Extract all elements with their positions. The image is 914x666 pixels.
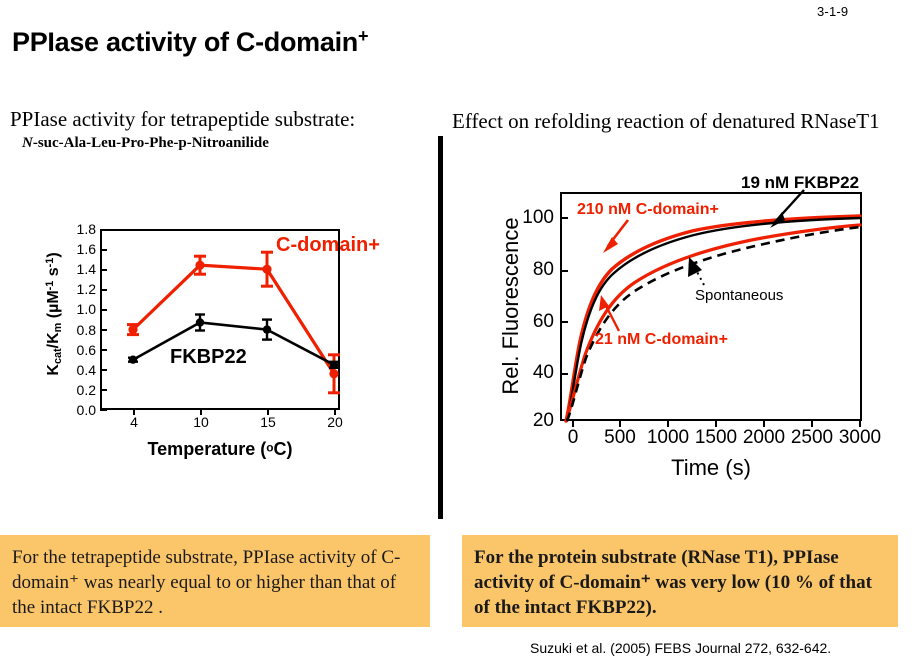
slide-number: 3-1-9 [817,4,848,19]
right-xtick-mark-2000 [763,419,765,427]
right-y-axis-title: Rel. Fluorescence [498,186,524,426]
chart-kcat-km-vs-temperature: 0.0 0.2 0.4 0.6 0.8 1.0 1.2 1.4 1.6 1.8 … [20,196,420,466]
right-ytick-mark-60 [560,321,568,323]
right-xtick-mark-1000 [667,419,669,427]
left-xtick-label-2: 15 [248,414,288,430]
slide-canvas: 3-1-9 PPIase activity of C-domain+ PPIas… [0,0,914,666]
right-panel-heading: Effect on refolding reaction of denature… [452,108,882,134]
annotation-spontaneous: Spontaneous [695,287,783,304]
panel-divider [438,136,443,519]
left-xtick-label-0: 4 [114,414,154,430]
right-xtick-mark-1500 [715,419,717,427]
substrate-name-rest: -suc-Ala-Leu-Pro-Phe-p-Nitroanilide [33,135,269,151]
left-ytick-mark-3 [100,349,107,351]
left-ytick-mark-8 [100,249,107,251]
left-ytick-mark-2 [100,369,107,371]
right-plot-frame [560,192,862,421]
left-xtick-label-3: 20 [315,414,355,430]
left-ytick-mark-4 [100,329,107,331]
substrate-name-italic: N [22,135,33,151]
citation: Suzuki et al. (2005) FEBS Journal 272, 6… [530,640,831,656]
series-label-c-domain: C-domain+ [276,234,380,257]
left-x-axis-title: Temperature (oC) [100,439,340,460]
page-title: PPIase activity of C-domain+ [12,26,368,58]
callout-left: For the tetrapeptide substrate, PPIase a… [0,535,430,627]
annotation-210nm-c-domain: 210 nM C-domain+ [577,201,719,219]
right-xtick-mark-0 [572,419,574,427]
annotation-21nm-c-domain: 21 nM C-domain+ [595,331,728,349]
right-xtick-label-3000: 3000 [825,427,895,449]
page-title-superscript: + [358,26,368,46]
chart-refolding-rnase-t1: 20 40 60 80 100 0 500 1000 1500 2000 250… [452,165,914,500]
left-y-axis-title: Kcat/Km (µM-1 s-1) [44,204,64,424]
left-ytick-mark-7 [100,269,107,271]
left-ytick-mark-0 [100,409,107,411]
right-ytick-mark-100 [560,217,568,219]
left-ytick-mark-1 [100,389,107,391]
right-xtick-mark-2500 [811,419,813,427]
callout-right: For the protein substrate (RNase T1), PP… [462,535,898,627]
left-ytick-mark-5 [100,309,107,311]
annotation-19nm-fkbp22: 19 nM FKBP22 [741,173,859,193]
right-ytick-mark-80 [560,270,568,272]
series-label-fkbp22: FKBP22 [170,346,247,369]
left-panel-subheading: N-suc-Ala-Leu-Pro-Phe-p-Nitroanilide [22,135,269,152]
left-panel-heading: PPIase activity for tetrapeptide substra… [10,107,355,132]
right-x-axis-title: Time (s) [560,455,862,481]
right-xtick-mark-3000 [859,419,861,427]
right-xtick-mark-500 [619,419,621,427]
left-xtick-label-1: 10 [181,414,221,430]
page-title-text: PPIase activity of C-domain [12,27,358,57]
left-ytick-mark-6 [100,289,107,291]
right-ytick-mark-40 [560,373,568,375]
